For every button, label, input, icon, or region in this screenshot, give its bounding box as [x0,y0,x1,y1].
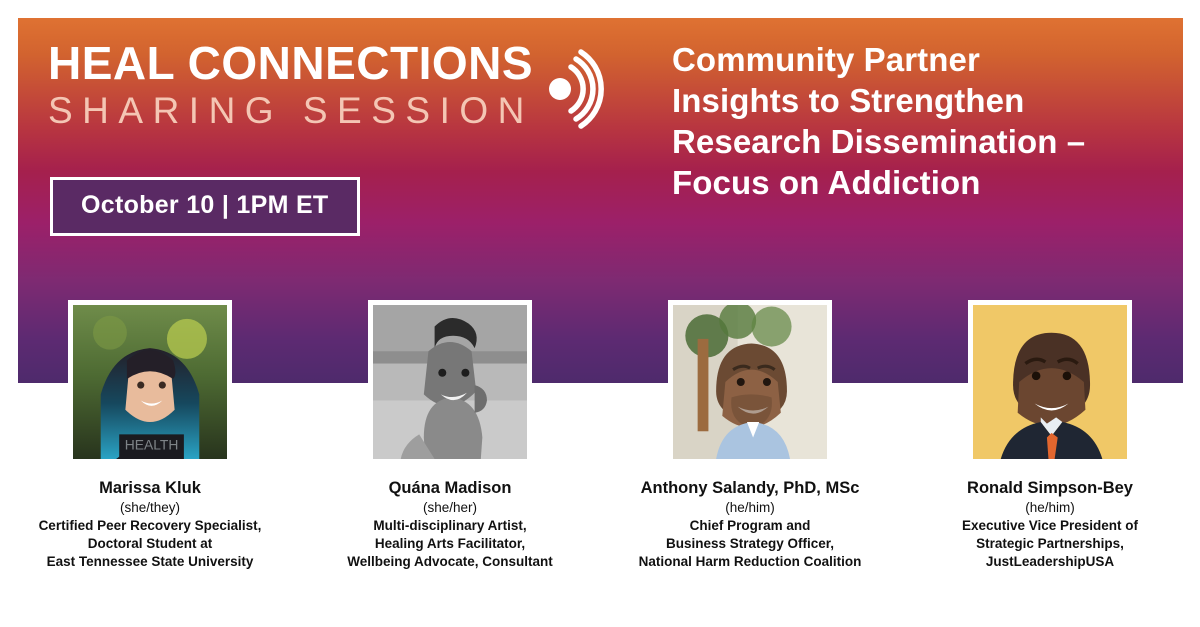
speaker-role-line: Wellbeing Advocate, Consultant [300,553,600,571]
date-time-badge-label: October 10 | 1PM ET [81,191,329,219]
speaker-pronouns: (he/him) [600,499,900,517]
speaker-photo [668,300,832,464]
speaker-card: Quána Madison (she/her) Multi-disciplina… [300,300,600,572]
broadcast-wave-icon [538,48,620,130]
session-title-line-2: Insights to Strengthen [672,81,1172,122]
speaker-role-line: East Tennessee State University [0,553,300,571]
speaker-photo: HEALTH [68,300,232,464]
speaker-role-line: JustLeadershipUSA [900,553,1200,571]
svg-text:HEALTH: HEALTH [125,437,179,453]
date-time-badge: October 10 | 1PM ET [50,177,360,236]
speaker-role-line: Doctoral Student at [0,535,300,553]
speaker-info: Ronald Simpson-Bey (he/him) Executive Vi… [900,478,1200,572]
speaker-list: HEALTH Marissa Kluk (she/they) Certified… [0,300,1200,572]
speaker-name: Quána Madison [300,478,600,499]
speaker-pronouns: (he/him) [900,499,1200,517]
session-title-line-3: Research Dissemination – [672,122,1172,163]
speaker-photo [368,300,532,464]
speaker-role-line: Certified Peer Recovery Specialist, [0,517,300,535]
speaker-info: Anthony Salandy, PhD, MSc (he/him) Chief… [600,478,900,572]
session-title-line-1: Community Partner [672,40,1172,81]
speaker-info: Marissa Kluk (she/they) Certified Peer R… [0,478,300,572]
speaker-card: Ronald Simpson-Bey (he/him) Executive Vi… [900,300,1200,572]
speaker-name: Anthony Salandy, PhD, MSc [600,478,900,499]
speaker-role-line: Executive Vice President of [900,517,1200,535]
speaker-pronouns: (she/her) [300,499,600,517]
speaker-pronouns: (she/they) [0,499,300,517]
speaker-name: Marissa Kluk [0,478,300,499]
speaker-role-line: Business Strategy Officer, [600,535,900,553]
session-title-line-4: Focus on Addiction [672,163,1172,204]
speaker-role-line: National Harm Reduction Coalition [600,553,900,571]
speaker-card: HEALTH Marissa Kluk (she/they) Certified… [0,300,300,572]
speaker-photo [968,300,1132,464]
speaker-name: Ronald Simpson-Bey [900,478,1200,499]
speaker-info: Quána Madison (she/her) Multi-disciplina… [300,478,600,572]
speaker-role-line: Chief Program and [600,517,900,535]
session-title: Community Partner Insights to Strengthen… [672,40,1172,204]
speaker-role-line: Multi-disciplinary Artist, [300,517,600,535]
poster-canvas: HEAL CONNECTIONS SHARING SESSION October… [0,0,1200,627]
speaker-card: Anthony Salandy, PhD, MSc (he/him) Chief… [600,300,900,572]
speaker-role-line: Strategic Partnerships, [900,535,1200,553]
speaker-role-line: Healing Arts Facilitator, [300,535,600,553]
